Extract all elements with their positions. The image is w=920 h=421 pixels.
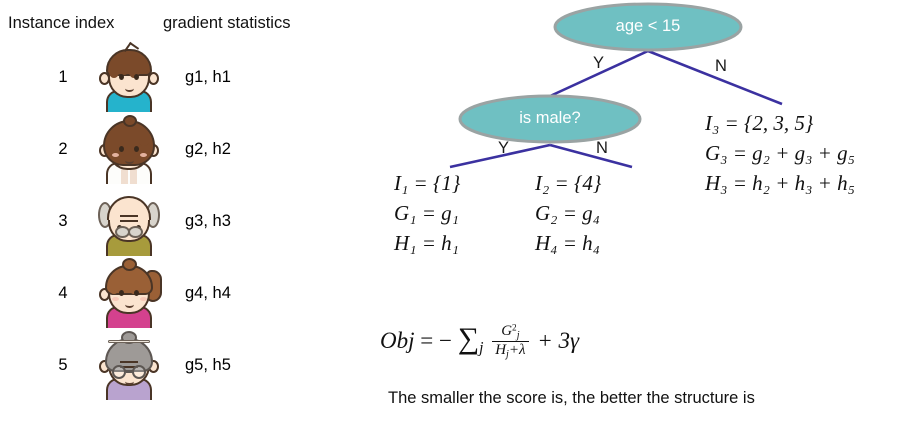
row-gradient-stats: g4, h4 [185,284,231,303]
glasses-icon [112,365,126,379]
edge-label-root-no: N [715,57,727,76]
row-gradient-stats: g3, h3 [185,212,231,231]
tree-diagram-panel: age < 15 is male? Y N Y N I₁ = {1} G₁ = … [340,0,920,421]
objective-equals: = [420,328,433,353]
tree-node-root[interactable] [555,4,741,50]
glasses-icon [132,365,146,379]
leaf1-instances: I₁ = {1} [394,168,460,198]
avatar-girl-ponytail [96,260,162,328]
leaf2-hessian-sum: H₄ = h₄ [535,228,601,258]
leaf3-instances: I₃ = {2, 3, 5} [705,108,855,138]
fraction-numerator: G2j [492,323,528,341]
leaf2-gradient-sum: G₂ = g₄ [535,198,601,228]
table-row: 4 g4, h4 [0,258,340,330]
leaf-stats-block-1: I₁ = {1} G₁ = g₁ H₁ = h₁ [394,168,460,258]
objective-fraction: G2j Hj+λ [492,323,528,360]
avatar-boy [96,44,162,112]
row-index: 5 [50,356,76,375]
objective-minus: − [439,328,452,353]
summation-index: j [479,339,483,356]
row-index: 4 [50,284,76,303]
row-index: 2 [50,140,76,159]
column-header-instance-index: Instance index [8,14,114,33]
summation-icon: ∑ [458,322,479,355]
edge-left-no [550,145,632,167]
instance-table-panel: Instance index gradient statistics 1 g1,… [0,0,340,421]
row-gradient-stats: g2, h2 [185,140,231,159]
leaf-stats-block-3: I₃ = {2, 3, 5} G₃ = g₂ + g₃ + g₅ H₃ = h₂… [705,108,855,198]
row-index: 1 [50,68,76,87]
avatar-old-woman [96,332,162,400]
edge-label-root-yes: Y [593,54,604,73]
tree-node-is-male[interactable] [460,96,640,142]
leaf3-gradient-sum: G₃ = g₂ + g₃ + g₅ [705,138,855,168]
row-index: 3 [50,212,76,231]
leaf1-hessian-sum: H₁ = h₁ [394,228,460,258]
edge-label-left-no: N [596,139,608,158]
objective-formula: Obj = − ∑j G2j Hj+λ + 3γ [380,322,579,361]
caption-text: The smaller the score is, the better the… [388,389,755,408]
table-row: 1 g1, h1 [0,42,340,114]
fraction-denominator: Hj+λ [492,341,528,360]
avatar-old-man [96,188,162,256]
column-header-gradient-statistics: gradient statistics [163,14,290,33]
leaf1-gradient-sum: G₁ = g₁ [394,198,460,228]
table-row: 5 g5, h5 [0,330,340,402]
leaf-stats-block-2: I₂ = {4} G₂ = g₄ H₄ = h₄ [535,168,601,258]
objective-lhs: Obj [380,328,415,353]
avatar-girl-long-hair [96,116,162,184]
row-gradient-stats: g5, h5 [185,356,231,375]
objective-regularization-term: + 3γ [537,328,579,353]
edge-label-left-yes: Y [498,139,509,158]
row-gradient-stats: g1, h1 [185,68,231,87]
table-row: 3 g3, h3 [0,186,340,258]
leaf3-hessian-sum: H₃ = h₂ + h₃ + h₅ [705,168,855,198]
leaf2-instances: I₂ = {4} [535,168,601,198]
table-row: 2 g2, h2 [0,114,340,186]
